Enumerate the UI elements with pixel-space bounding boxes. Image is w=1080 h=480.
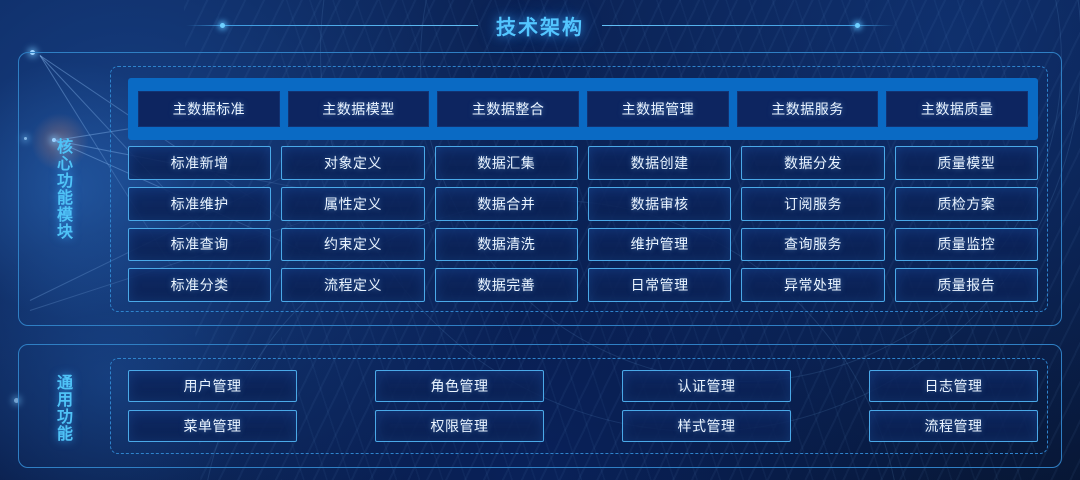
common-row: 菜单管理 权限管理 样式管理 流程管理 bbox=[128, 410, 1038, 442]
core-cell[interactable]: 标准查询 bbox=[128, 228, 271, 262]
core-functions-grid: 主数据标准 主数据模型 主数据整合 主数据管理 主数据服务 主数据质量 标准新增… bbox=[128, 78, 1038, 302]
common-cell[interactable]: 流程管理 bbox=[869, 410, 1038, 442]
core-cell[interactable]: 属性定义 bbox=[281, 187, 424, 221]
title-dot-right bbox=[855, 23, 860, 28]
core-header-cell[interactable]: 主数据模型 bbox=[288, 91, 430, 127]
page-title: 技术架构 bbox=[478, 11, 602, 40]
common-row: 用户管理 角色管理 认证管理 日志管理 bbox=[128, 370, 1038, 402]
common-cell[interactable]: 认证管理 bbox=[622, 370, 791, 402]
core-cell[interactable]: 查询服务 bbox=[741, 228, 884, 262]
common-functions-side-label: 通用功能 bbox=[40, 368, 74, 448]
core-header-cell[interactable]: 主数据管理 bbox=[587, 91, 729, 127]
core-header-cell[interactable]: 主数据服务 bbox=[737, 91, 879, 127]
common-functions-grid: 用户管理 角色管理 认证管理 日志管理 菜单管理 权限管理 样式管理 流程管理 bbox=[128, 370, 1038, 442]
core-row: 标准分类 流程定义 数据完善 日常管理 异常处理 质量报告 bbox=[128, 268, 1038, 302]
core-cell[interactable]: 维护管理 bbox=[588, 228, 731, 262]
common-cell[interactable]: 菜单管理 bbox=[128, 410, 297, 442]
core-cell[interactable]: 标准维护 bbox=[128, 187, 271, 221]
core-header-band: 主数据标准 主数据模型 主数据整合 主数据管理 主数据服务 主数据质量 bbox=[128, 78, 1038, 140]
common-cell[interactable]: 日志管理 bbox=[869, 370, 1038, 402]
core-cell[interactable]: 质量报告 bbox=[895, 268, 1038, 302]
core-cell[interactable]: 对象定义 bbox=[281, 146, 424, 180]
core-header-cell[interactable]: 主数据质量 bbox=[886, 91, 1028, 127]
core-cell[interactable]: 约束定义 bbox=[281, 228, 424, 262]
core-cell[interactable]: 流程定义 bbox=[281, 268, 424, 302]
common-cell[interactable]: 角色管理 bbox=[375, 370, 544, 402]
core-cell[interactable]: 异常处理 bbox=[741, 268, 884, 302]
core-cell[interactable]: 质检方案 bbox=[895, 187, 1038, 221]
core-header-cell[interactable]: 主数据整合 bbox=[437, 91, 579, 127]
core-row: 标准查询 约束定义 数据清洗 维护管理 查询服务 质量监控 bbox=[128, 228, 1038, 262]
core-cell[interactable]: 日常管理 bbox=[588, 268, 731, 302]
core-cell[interactable]: 质量监控 bbox=[895, 228, 1038, 262]
common-cell[interactable]: 样式管理 bbox=[622, 410, 791, 442]
core-cell[interactable]: 数据完善 bbox=[435, 268, 578, 302]
core-cell[interactable]: 数据创建 bbox=[588, 146, 731, 180]
core-cell[interactable]: 数据清洗 bbox=[435, 228, 578, 262]
title-dot-left bbox=[220, 23, 225, 28]
title-rule-left bbox=[186, 25, 478, 26]
core-cell[interactable]: 数据汇集 bbox=[435, 146, 578, 180]
title-rule-right bbox=[602, 25, 894, 26]
core-sub-rows: 标准新增 对象定义 数据汇集 数据创建 数据分发 质量模型 标准维护 属性定义 … bbox=[128, 146, 1038, 302]
page-title-bar: 技术架构 bbox=[0, 8, 1080, 42]
core-cell[interactable]: 数据合并 bbox=[435, 187, 578, 221]
common-cell[interactable]: 用户管理 bbox=[128, 370, 297, 402]
core-header-cell[interactable]: 主数据标准 bbox=[138, 91, 280, 127]
core-cell[interactable]: 标准分类 bbox=[128, 268, 271, 302]
core-functions-side-label: 核心功能模块 bbox=[40, 106, 74, 272]
core-row: 标准维护 属性定义 数据合并 数据审核 订阅服务 质检方案 bbox=[128, 187, 1038, 221]
core-cell[interactable]: 质量模型 bbox=[895, 146, 1038, 180]
core-row: 标准新增 对象定义 数据汇集 数据创建 数据分发 质量模型 bbox=[128, 146, 1038, 180]
core-cell[interactable]: 数据分发 bbox=[741, 146, 884, 180]
core-cell[interactable]: 订阅服务 bbox=[741, 187, 884, 221]
core-cell[interactable]: 标准新增 bbox=[128, 146, 271, 180]
common-cell[interactable]: 权限管理 bbox=[375, 410, 544, 442]
core-cell[interactable]: 数据审核 bbox=[588, 187, 731, 221]
